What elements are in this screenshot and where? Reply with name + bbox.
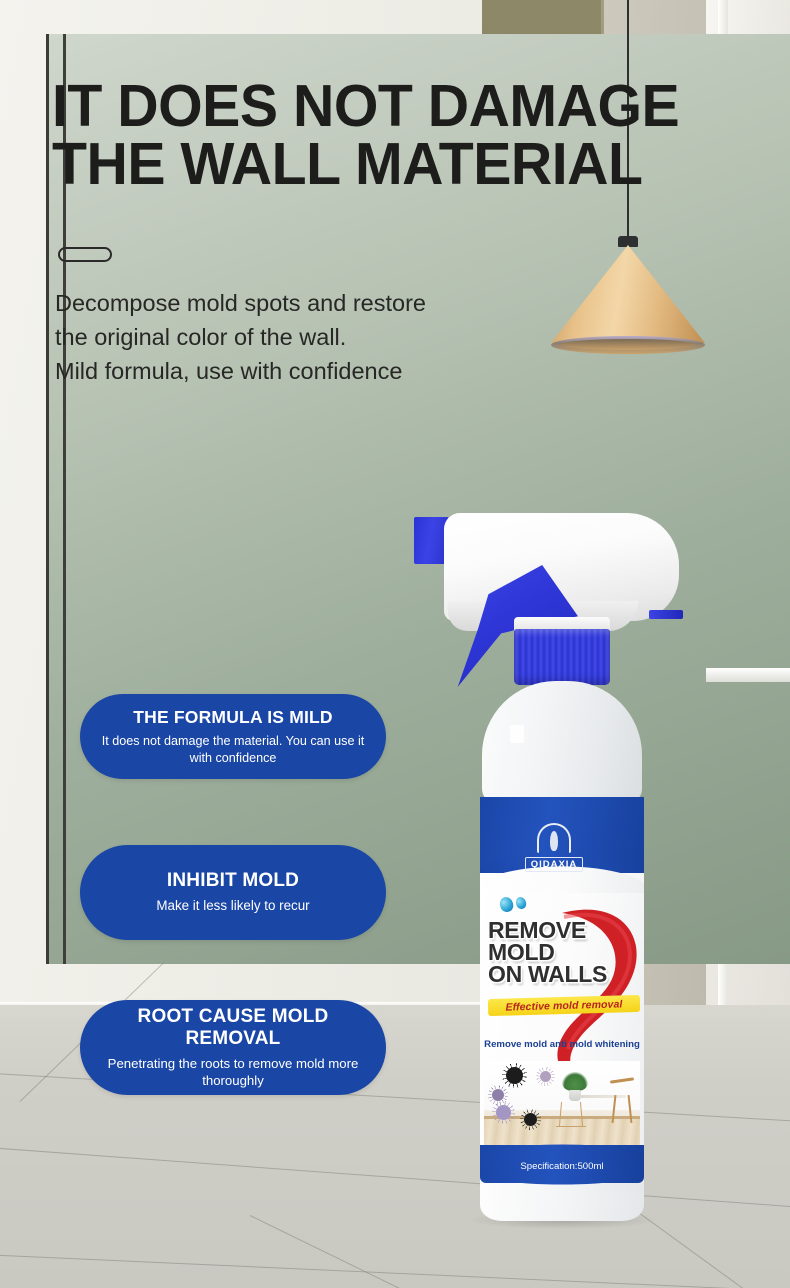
- chair-leg: [628, 1095, 633, 1123]
- chair-back: [610, 1077, 634, 1083]
- sprayer-rear-tab: [649, 610, 683, 619]
- feature-badge-title: THE FORMULA IS MILD: [133, 707, 333, 728]
- feature-badge-description: Make it less likely to recur: [156, 897, 309, 915]
- headline-divider: [58, 247, 112, 262]
- mold-spore-icon: [540, 1071, 551, 1082]
- mold-spore-icon: [496, 1105, 511, 1120]
- scene-side-table: [556, 1101, 586, 1127]
- product-title: REMOVE MOLD ON WALLS: [488, 919, 638, 985]
- specification-text: Specification:500ml: [480, 1161, 644, 1172]
- floor-grout-line: [0, 1253, 790, 1288]
- feature-badge-description: It does not damage the material. You can…: [98, 733, 368, 766]
- bottle-highlight: [510, 725, 524, 743]
- feature-badge-formula-mild[interactable]: THE FORMULA IS MILD It does not damage t…: [80, 694, 386, 779]
- feature-badge-root-cause-removal[interactable]: ROOT CAUSE MOLD REMOVAL Penetrating the …: [80, 1000, 386, 1095]
- mold-spore-icon: [524, 1113, 537, 1126]
- label-blue-bottom-band: Specification:500ml: [480, 1145, 644, 1183]
- chair-leg: [612, 1095, 617, 1123]
- qidaxia-emblem-icon: [537, 823, 571, 853]
- brand-name: QIDAXIA: [525, 857, 584, 872]
- mold-spore-icon: [506, 1067, 523, 1084]
- bottle-cap: [514, 629, 610, 685]
- page-subheadline: Decompose mold spots and restore the ori…: [55, 287, 525, 388]
- product-tagline: Remove mold anti mold whitening: [480, 1039, 644, 1050]
- banner-text: Effective mold removal: [505, 998, 622, 1013]
- droplet-icon: [498, 895, 515, 913]
- bottle-shoulder: [482, 681, 642, 803]
- page-headline: IT DOES NOT DAMAGE THE WALL MATERIAL: [52, 78, 712, 194]
- feature-badge-description: Penetrating the roots to remove mold mor…: [98, 1055, 368, 1090]
- brand-lockup: QIDAXIA: [404, 823, 704, 872]
- product-ad-page: IT DOES NOT DAMAGE THE WALL MATERIAL Dec…: [0, 0, 790, 1288]
- scene-chair: [608, 1079, 636, 1123]
- feature-badge-title: INHIBIT MOLD: [167, 870, 299, 892]
- mold-spore-icon: [492, 1089, 504, 1101]
- label-room-scene: [484, 1061, 640, 1145]
- product-spray-bottle: QIDAXIA REMOVE MOLD ON WALLS Effective m…: [404, 505, 704, 1225]
- window-sill: [706, 668, 790, 682]
- plant-leaves: [562, 1071, 588, 1091]
- feature-badge-title: ROOT CAUSE MOLD REMOVAL: [98, 1006, 368, 1050]
- water-droplets-icon: [500, 897, 526, 917]
- droplet-icon: [514, 896, 527, 911]
- feature-badge-inhibit-mold[interactable]: INHIBIT MOLD Make it less likely to recu…: [80, 845, 386, 940]
- pendant-lamp-rim: [551, 336, 705, 354]
